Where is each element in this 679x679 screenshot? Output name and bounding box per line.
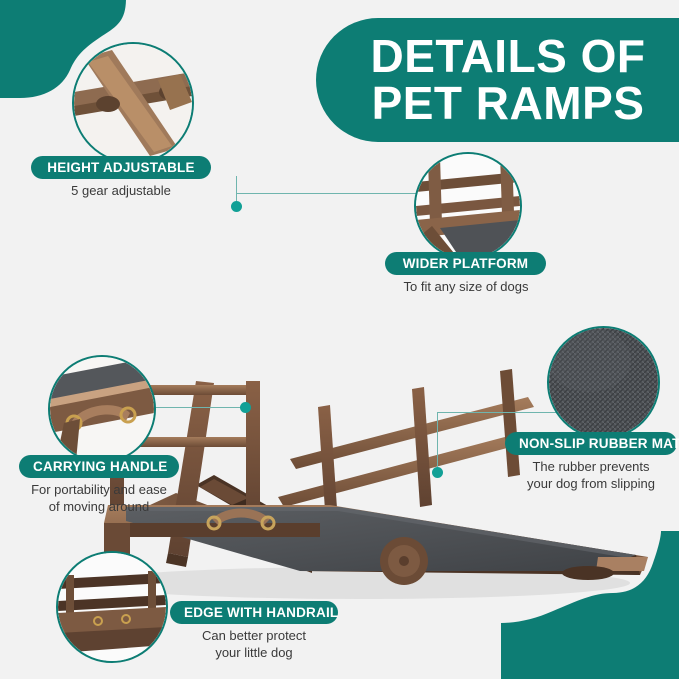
caption-height-adjustable: 5 gear adjustable — [21, 182, 221, 199]
badge-height-adjustable[interactable]: HEIGHT ADJUSTABLE — [31, 156, 211, 179]
leader-dot-rubber-mat — [432, 467, 443, 478]
pivot-hinge — [380, 537, 428, 585]
callout-photo-rubber-mat — [547, 326, 660, 439]
photo-leather-carry-handle — [50, 357, 154, 461]
leader-dot-carrying-handle — [240, 402, 251, 413]
ramp-foot — [562, 566, 614, 580]
leader-line-wider-platform-h — [236, 193, 432, 194]
caption-carrying-handle: For portability and ease of moving aroun… — [9, 481, 189, 515]
badge-edge-with-handrail[interactable]: EDGE WITH HANDRAIL — [170, 601, 338, 624]
caption-non-slip-rubber-mat: The rubber prevents your dog from slippi… — [501, 458, 679, 492]
callout-photo-carrying-handle — [48, 355, 156, 463]
infographic-canvas: DETAILS OF PET RAMPS — [0, 0, 679, 679]
leader-dot-height-adjustable — [231, 201, 242, 212]
callout-photo-height-adjustable — [72, 42, 194, 164]
photo-wide-platform-railing — [416, 154, 520, 258]
caption-wider-platform: To fit any size of dogs — [376, 278, 556, 295]
badge-carrying-handle[interactable]: CARRYING HANDLE — [19, 455, 179, 478]
callout-photo-wider-platform — [414, 152, 522, 260]
leader-line-rubber-mat-v — [437, 412, 438, 472]
photo-wooden-adjuster-joint — [74, 44, 192, 162]
photo-handrail-edge — [58, 553, 166, 661]
page-title-line-2: PET RAMPS — [372, 80, 645, 127]
page-title-line-1: DETAILS OF — [370, 33, 645, 80]
badge-non-slip-rubber-mat[interactable]: NON-SLIP RUBBER MAT — [505, 432, 677, 455]
leader-line-carrying-handle-h — [148, 407, 246, 408]
callout-photo-edge-handrail — [56, 551, 168, 663]
photo-rubber-mat-texture — [549, 328, 658, 437]
far-handrail — [278, 369, 534, 525]
leader-line-rubber-mat-h — [437, 412, 565, 413]
page-title-banner: DETAILS OF PET RAMPS — [316, 18, 679, 142]
caption-edge-with-handrail: Can better protect your little dog — [164, 627, 344, 661]
badge-wider-platform[interactable]: WIDER PLATFORM — [385, 252, 546, 275]
leader-elbow-a — [236, 176, 237, 177]
